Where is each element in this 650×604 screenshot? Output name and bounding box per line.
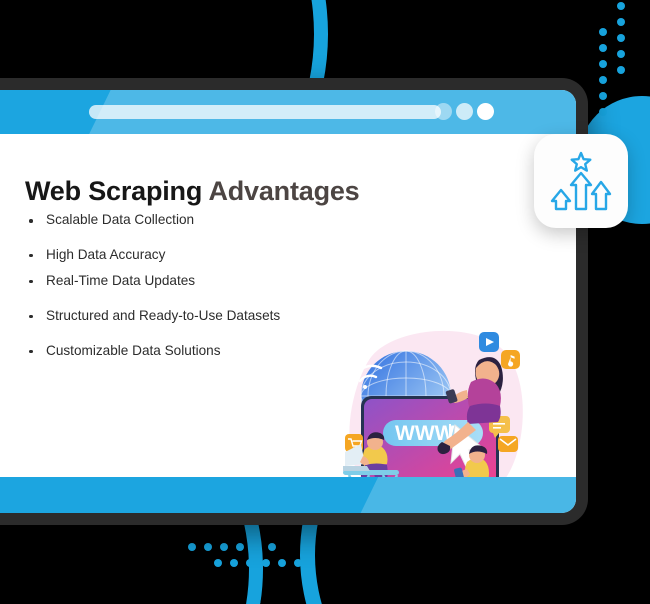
chat-line <box>493 423 505 425</box>
page-title: Web Scraping Advantages <box>25 176 360 207</box>
window-control-dot-2[interactable] <box>456 103 473 120</box>
list-item: Customizable Data Solutions <box>25 343 345 360</box>
decorative-dot <box>617 2 625 10</box>
arrow-right <box>592 182 610 209</box>
star-glyph <box>572 153 591 171</box>
decorative-dot <box>617 50 625 58</box>
decorative-dot <box>617 18 625 26</box>
decorative-dot <box>294 559 302 567</box>
decorative-dot <box>599 44 607 52</box>
decorative-dot <box>220 543 228 551</box>
decorative-dot <box>188 543 196 551</box>
decorative-dot-column-left <box>599 28 607 116</box>
decorative-dot <box>617 66 625 74</box>
web-scraping-illustration: WWW <box>343 324 533 477</box>
list-item: Real-Time Data Updates <box>25 273 345 290</box>
arrow-center <box>571 173 591 209</box>
growth-icon-card[interactable] <box>534 134 628 228</box>
list-item: Structured and Ready-to-Use Datasets <box>25 308 345 325</box>
footer-gloss <box>344 477 576 513</box>
chat-line <box>493 427 501 429</box>
decorative-dot <box>599 92 607 100</box>
decorative-dot <box>599 60 607 68</box>
advantages-list: Scalable Data Collection High Data Accur… <box>25 212 345 378</box>
browser-window-screen: Web Scraping Advantages Scalable Data Co… <box>0 90 576 513</box>
decorative-dot <box>617 34 625 42</box>
decorative-dot <box>262 559 270 567</box>
browser-window-mockup: Web Scraping Advantages Scalable Data Co… <box>0 78 588 525</box>
growth-arrows-star-icon <box>548 148 614 214</box>
decorative-dot <box>252 543 260 551</box>
decorative-dot <box>230 559 238 567</box>
list-item: High Data Accuracy <box>25 247 345 264</box>
decorative-dot <box>246 559 254 567</box>
browser-footer-bar <box>0 477 576 513</box>
page-title-strong: Web Scraping <box>25 176 202 206</box>
decorative-dot-row-bottom <box>214 559 302 567</box>
decorative-dot-column-right <box>617 2 625 74</box>
page-title-light: Advantages <box>202 176 359 206</box>
woman-skirt <box>467 404 501 425</box>
decorative-dot <box>278 559 286 567</box>
window-control-dot-3[interactable] <box>477 103 494 120</box>
envelope-icon <box>498 436 518 452</box>
address-bar[interactable] <box>89 105 441 119</box>
decorative-dot <box>599 108 607 116</box>
decorative-dot <box>599 28 607 36</box>
list-item: Scalable Data Collection <box>25 212 345 229</box>
decorative-dot-row-top <box>188 543 276 551</box>
window-control-dot-1[interactable] <box>435 103 452 120</box>
decorative-dot <box>214 559 222 567</box>
slide-content-area: Web Scraping Advantages Scalable Data Co… <box>0 134 576 477</box>
arrow-left <box>552 190 570 209</box>
decorative-dot <box>204 543 212 551</box>
decorative-dot <box>236 543 244 551</box>
slide-canvas: Web Scraping Advantages Scalable Data Co… <box>0 0 650 604</box>
browser-toolbar <box>0 90 576 134</box>
decorative-dot <box>268 543 276 551</box>
decorative-dot <box>599 76 607 84</box>
laptop-base <box>343 466 370 471</box>
